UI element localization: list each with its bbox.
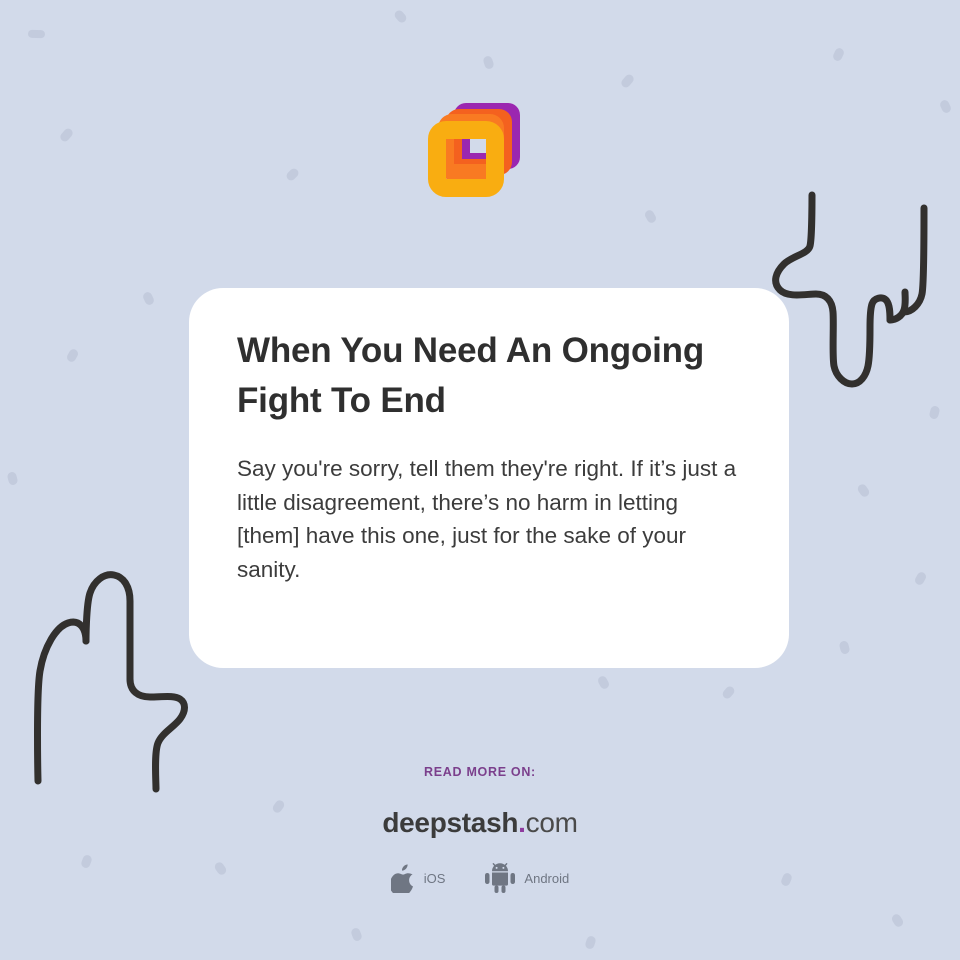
deepstash-logo [424, 100, 524, 200]
speck [856, 483, 871, 499]
speck [59, 127, 75, 144]
speck [28, 30, 45, 39]
poster-canvas: When You Need An Ongoing Fight To End Sa… [0, 0, 960, 960]
speck [584, 935, 597, 950]
logo-layer-amber [428, 121, 504, 197]
speck [643, 209, 657, 225]
speck [6, 471, 18, 486]
speck [142, 291, 156, 307]
speck [890, 913, 905, 929]
speck [65, 348, 79, 364]
speck [838, 640, 850, 655]
speck [482, 55, 495, 70]
speck [393, 9, 408, 25]
card-body-text: Say you're sorry, tell them they're righ… [237, 452, 741, 586]
android-store-badge[interactable]: Android [485, 863, 569, 893]
speck [928, 405, 940, 420]
store-badges: iOS Android [0, 863, 960, 893]
android-icon [485, 863, 515, 893]
android-label: Android [524, 871, 569, 886]
speck [832, 47, 846, 63]
speck [596, 675, 610, 691]
wordmark-dot: . [518, 807, 525, 838]
ios-label: iOS [424, 871, 446, 886]
speck [285, 167, 301, 183]
apple-icon [391, 864, 415, 893]
speck [350, 927, 363, 942]
speck [939, 99, 953, 115]
speck [620, 73, 636, 90]
deepstash-wordmark[interactable]: deepstash.com [0, 807, 960, 839]
card-title: When You Need An Ongoing Fight To End [237, 326, 741, 426]
quote-card: When You Need An Ongoing Fight To End Sa… [189, 288, 789, 668]
speck [913, 571, 927, 587]
read-more-label: READ MORE ON: [0, 765, 960, 779]
ios-store-badge[interactable]: iOS [391, 864, 446, 893]
wordmark-tld: com [526, 807, 578, 838]
speck [721, 685, 736, 701]
footer: READ MORE ON: deepstash.com iOS [0, 765, 960, 893]
wordmark-name: deepstash [382, 807, 518, 838]
